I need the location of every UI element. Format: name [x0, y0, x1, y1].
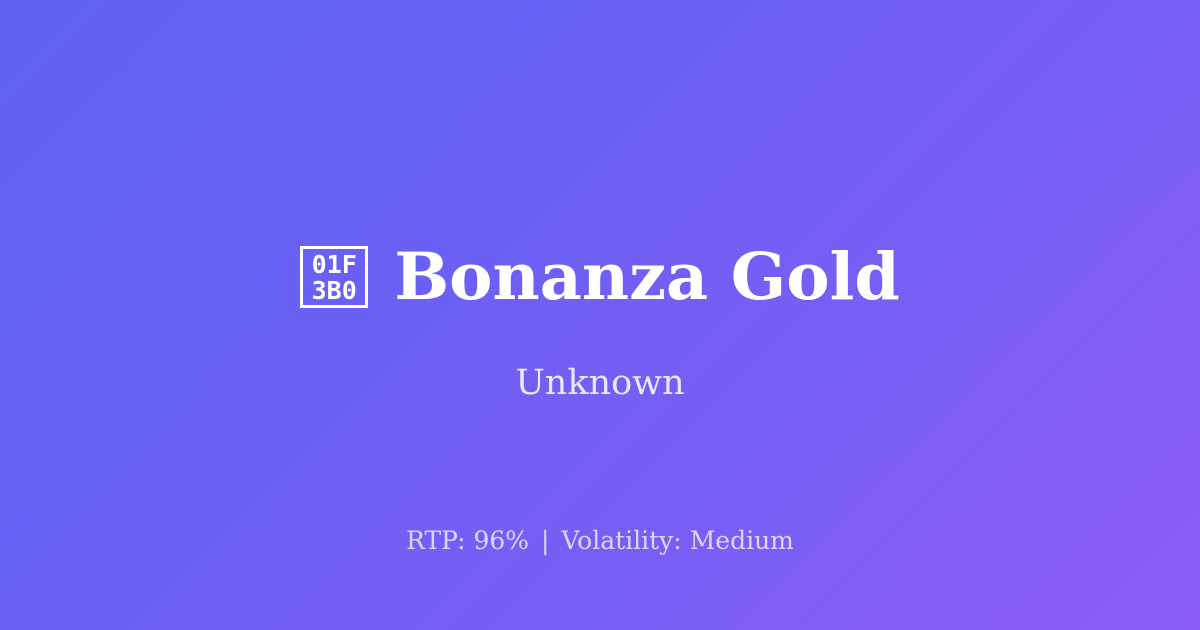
volatility-label: Volatility: — [561, 526, 681, 555]
game-provider-subtitle: Unknown — [0, 362, 1200, 404]
title-row: 01F 3B0 Bonanza Gold — [0, 232, 1200, 322]
tofu-codepoint-top: 01F — [312, 252, 357, 278]
page-title: Bonanza Gold — [394, 243, 900, 311]
rtp-label: RTP: — [406, 526, 465, 555]
slot-machine-icon: 01F 3B0 — [300, 246, 368, 308]
rtp-value: 96% — [473, 526, 529, 555]
volatility-value: Medium — [690, 526, 794, 555]
stats-separator: | — [537, 526, 553, 555]
game-stats-line: RTP: 96% | Volatility: Medium — [0, 526, 1200, 556]
game-info-card: 01F 3B0 Bonanza Gold Unknown RTP: 96% | … — [0, 0, 1200, 630]
tofu-codepoint-bottom: 3B0 — [312, 278, 357, 304]
